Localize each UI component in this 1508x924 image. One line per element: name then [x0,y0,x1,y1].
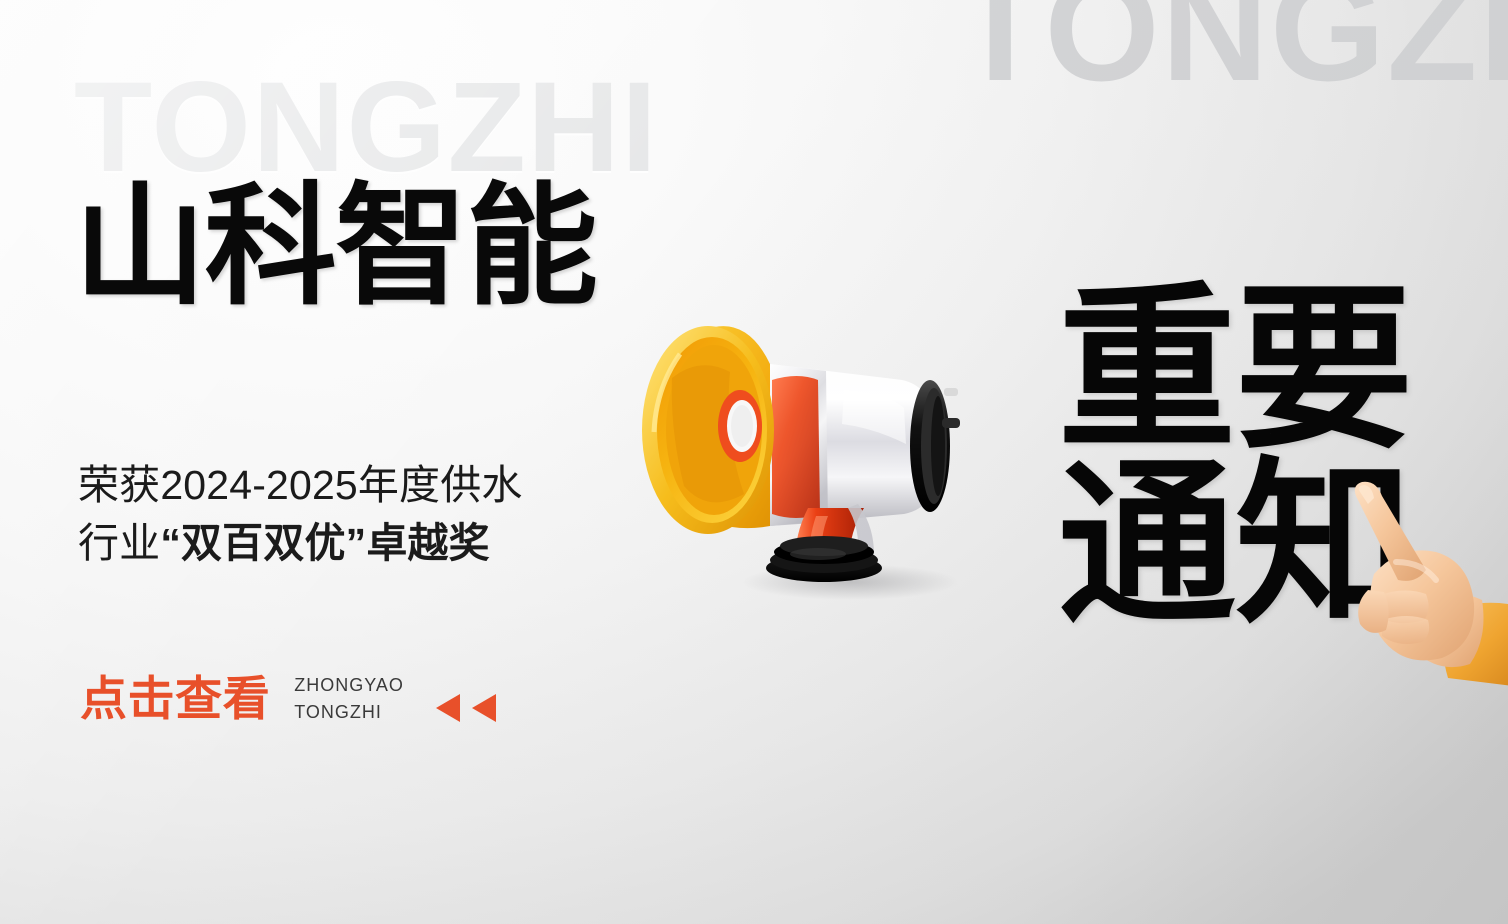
pointing-hand-illustration [1330,478,1508,688]
brand-title: 山科智能 [74,176,597,319]
cta-pinyin: ZHONGYAO TONGZHI [294,672,404,725]
left-content-column: 山科智能 荣获2024-2025年度供水 行业“双百双优”卓越奖 点击查看 ZH… [0,0,700,924]
notice-heading-line-1: 重要 [1058,282,1412,457]
award-line-2-suffix: 卓越奖 [366,520,490,566]
megaphone-base [766,536,882,582]
cta-pinyin-line-1: ZHONGYAO [294,672,404,699]
award-line-2-prefix: 行业 [78,520,160,566]
notice-banner: TONGZHI TONGZHI 山科智能 荣获2024-2025年度供水 行业“… [0,0,1508,924]
award-line-2: 行业“双百双优”卓越奖 [78,514,523,572]
megaphone-rear-collar [910,380,960,512]
award-line-2-quoted: “双百双优” [160,520,366,566]
cta-pinyin-line-2: TONGZHI [294,699,404,726]
megaphone-body [770,364,934,526]
background-watermark-tongzhi-top: TONGZHI [955,0,1508,104]
cta-row[interactable]: 点击查看 ZHONGYAO TONGZHI [80,672,496,725]
cta-arrow-group [436,676,496,722]
megaphone-horn [642,326,774,534]
cta-view-button[interactable]: 点击查看 [80,675,270,722]
left-triangle-icon-2 [472,694,496,722]
left-triangle-icon-1 [436,694,460,722]
award-description: 荣获2024-2025年度供水 行业“双百双优”卓越奖 [78,456,523,572]
hand-knuckle-2 [1382,616,1429,644]
megaphone-illustration [612,268,1032,608]
award-line-1: 荣获2024-2025年度供水 [78,456,523,514]
hand-thumb [1358,590,1388,633]
